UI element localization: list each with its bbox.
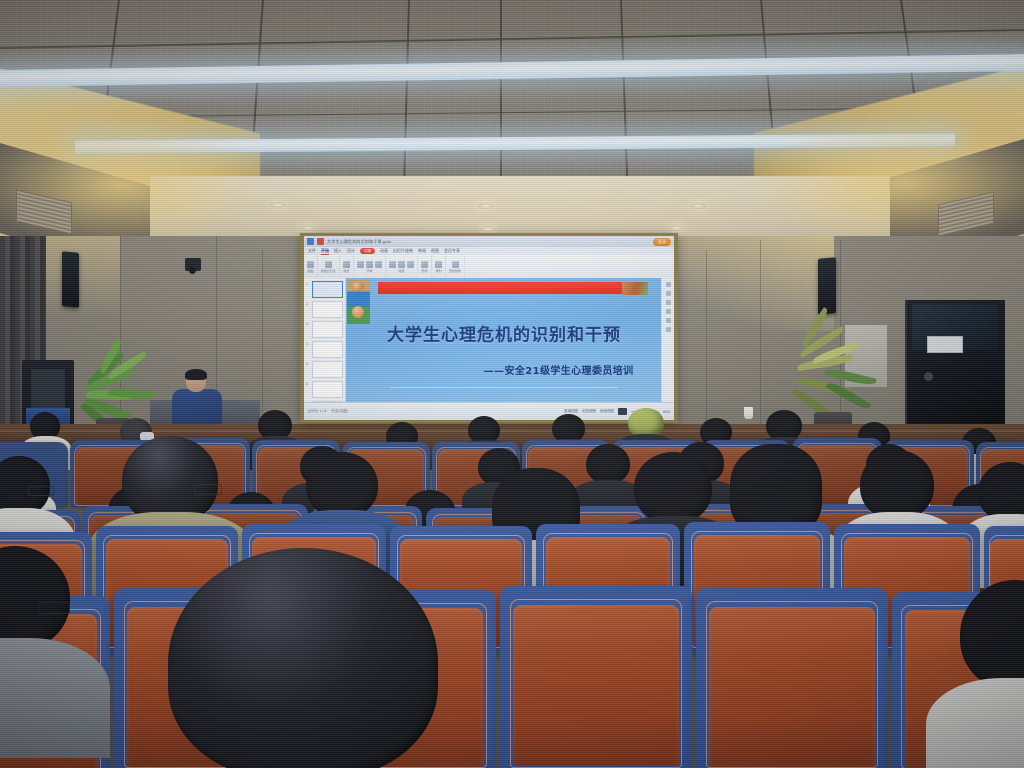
shape-icon	[421, 261, 428, 268]
audience-seating	[0, 400, 1024, 768]
presenter-hair	[185, 369, 207, 380]
more-tools-icon[interactable]	[666, 327, 671, 332]
slide-thumbnail[interactable]: 3	[306, 321, 343, 338]
downlight	[480, 226, 496, 232]
thumbnail-preview	[312, 381, 343, 398]
image-tools-icon[interactable]	[666, 300, 671, 305]
lecture-hall-photo: 大学生心理危机的识别和干预.pptx 登录 文件 开始 插入 设计 切换 动画 …	[0, 0, 1024, 768]
tab-slideshow[interactable]: 幻灯片放映	[393, 248, 413, 254]
wall-warm-wash-right	[654, 236, 834, 331]
tab-transition-badge[interactable]: 切换	[360, 248, 375, 254]
chart-tools-icon[interactable]	[666, 318, 671, 323]
ribbon-group-label: 形状	[422, 269, 428, 273]
downlight	[668, 225, 684, 231]
slide-banner	[378, 282, 634, 294]
layout-icon	[343, 261, 350, 268]
ribbon-group-font[interactable]: 字体	[354, 255, 386, 278]
tab-design[interactable]: 设计	[347, 248, 355, 254]
slide-thumbnail[interactable]: 5	[306, 361, 343, 378]
door-handle[interactable]	[924, 372, 933, 381]
ppt-ribbon-tabs: 文件 开始 插入 设计 切换 动画 幻灯片放映 审阅 视图 会员专享	[304, 247, 674, 255]
find-icon	[452, 261, 459, 268]
ribbon-group-label: 排列	[436, 269, 442, 273]
tab-insert[interactable]: 插入	[334, 248, 342, 254]
thumbnail-preview	[312, 341, 343, 358]
slide-image-left	[347, 280, 370, 324]
ribbon-group-layout[interactable]: 版式	[340, 255, 354, 278]
sign-in-button[interactable]: 登录	[653, 238, 671, 246]
current-slide: 大学生心理危机的识别和干预 ——安全21级学生心理委员培训	[346, 278, 662, 402]
ribbon-group-shape[interactable]: 形状	[418, 255, 432, 278]
slide-thumbnail[interactable]: 6	[306, 381, 343, 398]
paragraph-controls	[389, 261, 414, 268]
door-sign	[927, 336, 963, 353]
bold-icon	[366, 261, 373, 268]
tab-animation[interactable]: 动画	[380, 248, 388, 254]
thumbnail-preview	[312, 301, 343, 318]
thumbnail-number: 6	[306, 381, 310, 386]
right-tool-rail[interactable]	[661, 278, 674, 402]
ribbon-group-paragraph[interactable]: 段落	[386, 255, 418, 278]
font-controls	[357, 261, 382, 268]
file-type-icon	[317, 238, 324, 245]
auditorium-seat[interactable]	[696, 588, 888, 768]
slide-subtitle: ——安全21级学生心理委员培训	[484, 362, 634, 377]
slide-thumbnail[interactable]: 4	[306, 341, 343, 358]
slide-image-right	[622, 282, 648, 295]
slide-thumbnail[interactable]: 1	[306, 281, 343, 298]
bullet-list-icon	[407, 261, 414, 268]
auditorium-seat[interactable]	[500, 586, 692, 768]
ceiling	[0, 0, 1024, 250]
tab-member[interactable]: 会员专享	[444, 248, 460, 254]
slide-title: 大学生心理危机的识别和干预	[346, 320, 662, 345]
ribbon-group-label: 新建幻灯片	[321, 269, 336, 273]
downlight	[478, 203, 494, 209]
ribbon-group-label: 字体	[367, 269, 373, 273]
slide-thumbnail[interactable]: 2	[306, 301, 343, 318]
design-ideas-icon[interactable]	[666, 282, 671, 287]
thumbnail-preview	[312, 361, 343, 378]
ppt-document-title: 大学生心理危机的识别和干预.pptx	[327, 239, 391, 245]
wall-speaker-left	[62, 251, 79, 307]
slide-rule	[390, 387, 618, 388]
thumbnail-number: 1	[306, 281, 310, 286]
slide-thumbnail-panel[interactable]: 1 2 3 4	[304, 278, 346, 402]
title-bar-controls: 登录	[653, 238, 671, 246]
text-tools-icon[interactable]	[666, 309, 671, 314]
ceiling-camera	[185, 258, 201, 271]
wall-speaker-right	[818, 257, 836, 315]
tab-view[interactable]: 视图	[431, 248, 439, 254]
format-shape-icon[interactable]	[666, 291, 671, 296]
align-left-icon	[389, 261, 396, 268]
slide-canvas[interactable]: 大学生心理危机的识别和干预 ——安全21级学生心理委员培训	[346, 278, 662, 402]
ribbon-group-label: 查找替换	[449, 269, 461, 273]
wall-panel-joint	[760, 240, 761, 426]
arrange-icon	[435, 261, 442, 268]
thumbnail-preview	[312, 321, 343, 338]
thumbnail-number: 3	[306, 321, 310, 326]
downlight	[300, 225, 316, 231]
align-center-icon	[398, 261, 405, 268]
downlight	[690, 203, 706, 209]
paste-icon	[307, 261, 314, 268]
ribbon-group-find[interactable]: 查找替换	[446, 255, 465, 278]
ribbon-group-new-slide[interactable]: 新建幻灯片	[318, 255, 340, 278]
projection-screen: 大学生心理危机的识别和干预.pptx 登录 文件 开始 插入 设计 切换 动画 …	[304, 236, 674, 420]
tab-review[interactable]: 审阅	[418, 248, 426, 254]
ceiling-seam	[500, 0, 502, 180]
italic-icon	[375, 261, 382, 268]
tab-file[interactable]: 文件	[308, 248, 316, 254]
ribbon-group-arrange[interactable]: 排列	[432, 255, 446, 278]
new-slide-icon	[325, 261, 332, 268]
thumbnail-preview	[312, 281, 343, 298]
thumbnail-number: 2	[306, 301, 310, 306]
ribbon-group-label: 粘贴	[307, 269, 313, 273]
ppt-title-bar: 大学生心理危机的识别和干预.pptx 登录	[304, 236, 674, 247]
ribbon-group-label: 段落	[399, 269, 405, 273]
thumbnail-number: 5	[306, 361, 310, 366]
ribbon-group-label: 版式	[344, 269, 350, 273]
ppt-ribbon: 粘贴 新建幻灯片 版式 字体	[304, 255, 674, 279]
font-icon	[357, 261, 364, 268]
thumbnail-number: 4	[306, 341, 310, 346]
tab-home[interactable]: 开始	[321, 248, 329, 255]
downlight	[270, 202, 286, 208]
app-icon	[307, 238, 314, 245]
ribbon-group-paste[interactable]: 粘贴	[304, 255, 318, 278]
